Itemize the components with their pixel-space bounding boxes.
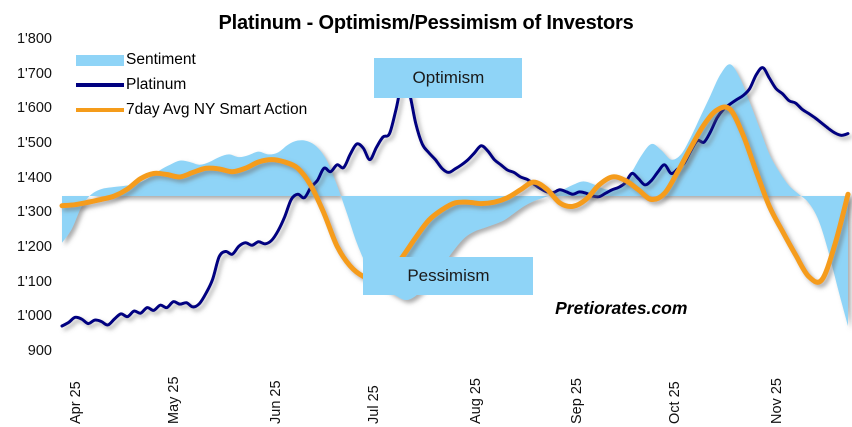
annotation-pessimism: Pessimism — [363, 257, 533, 295]
legend-item-sentiment[interactable]: Sentiment — [76, 51, 196, 69]
legend-line-swatch-icon — [76, 83, 124, 87]
annotation-optimism: Optimism — [374, 58, 522, 98]
chart-container: Platinum - Optimism/Pessimism of Investo… — [0, 0, 852, 427]
legend-item-platinum[interactable]: Platinum — [76, 76, 186, 94]
legend-item-7day-avg-ny-smart-action[interactable]: 7day Avg NY Smart Action — [76, 101, 307, 119]
legend-area-swatch-icon — [76, 55, 124, 66]
legend-item-label: 7day Avg NY Smart Action — [126, 101, 307, 119]
legend-line-swatch-icon — [76, 108, 124, 112]
legend-item-label: Sentiment — [126, 51, 196, 69]
watermark-pretiorates: Pretiorates.com — [555, 298, 687, 319]
legend-item-label: Platinum — [126, 76, 186, 94]
